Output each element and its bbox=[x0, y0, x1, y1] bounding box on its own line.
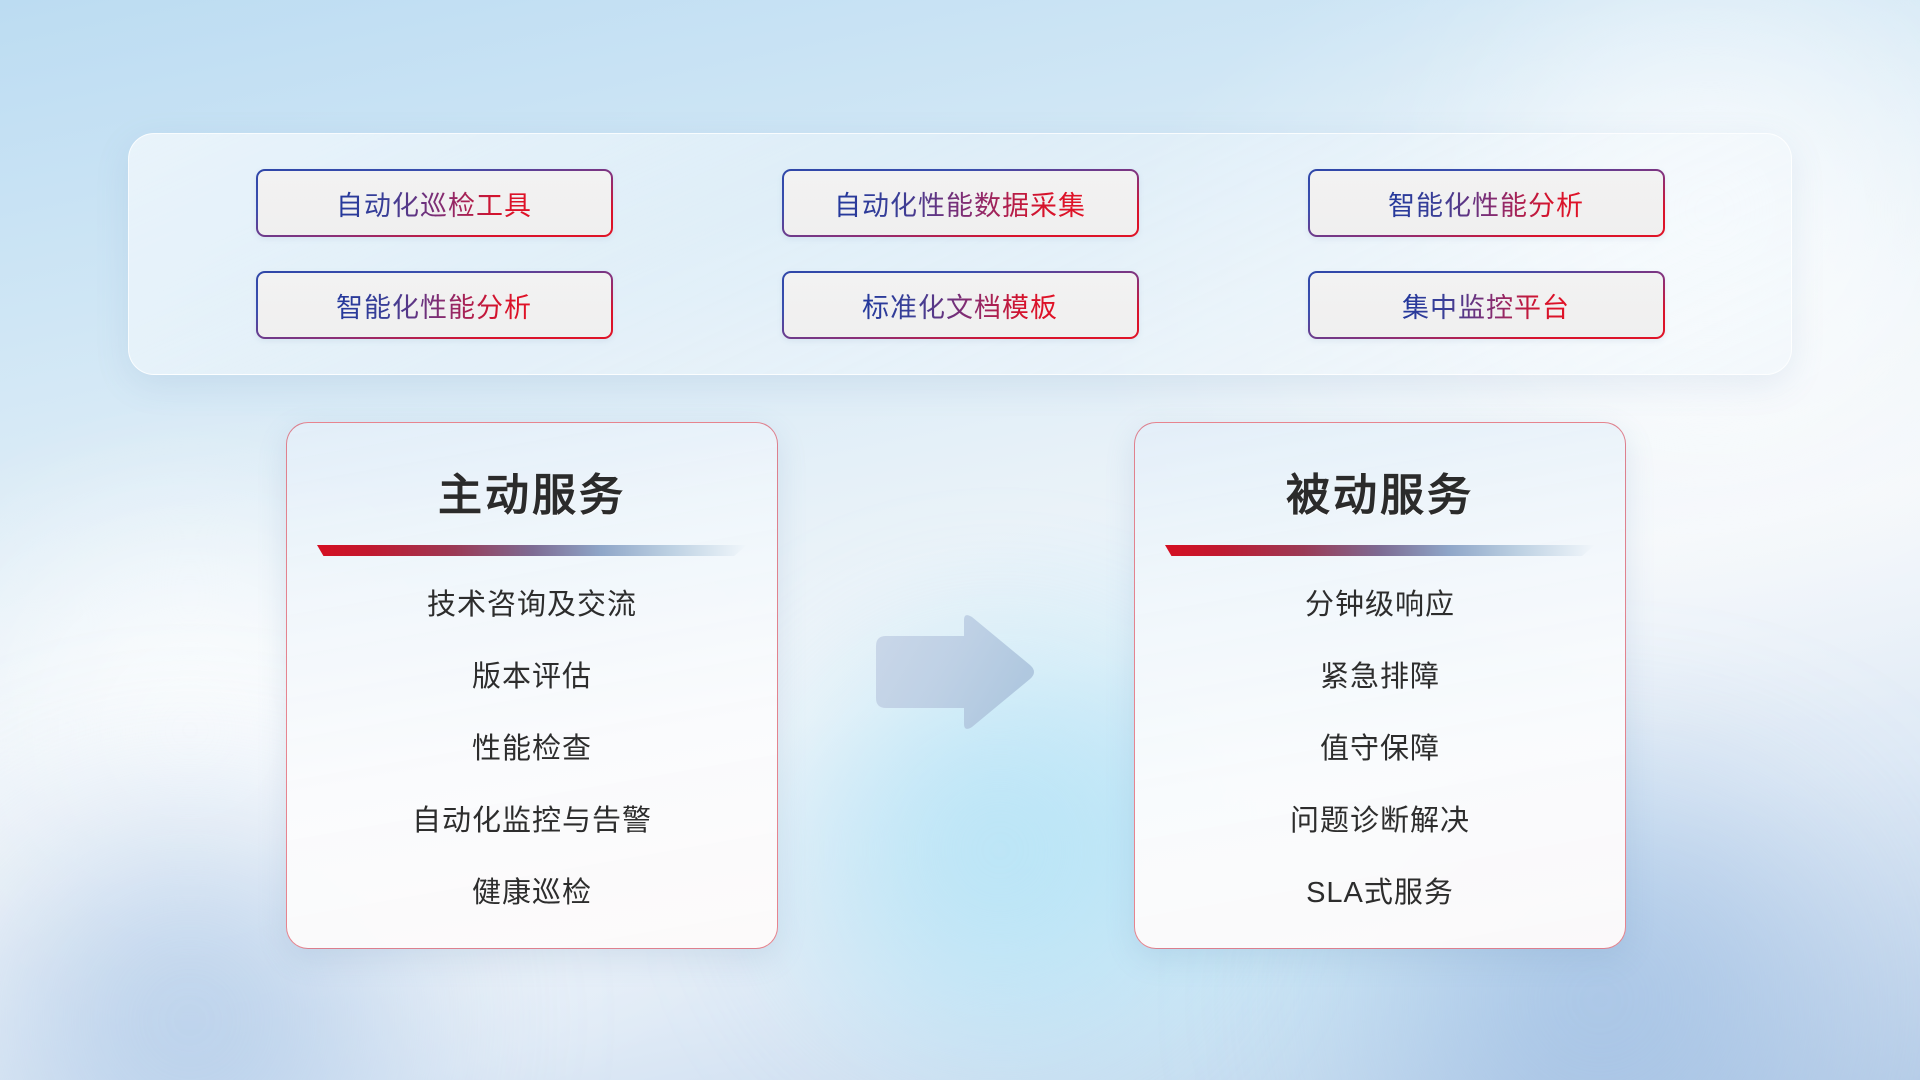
list-item: 分钟级响应 bbox=[1305, 581, 1455, 623]
list-item: 版本评估 bbox=[472, 653, 592, 695]
title-underline-bar bbox=[317, 545, 747, 556]
reactive-service-list: 分钟级响应 紧急排障 值守保障 问题诊断解决 SLA式服务 bbox=[1135, 556, 1625, 948]
title-underline-bar bbox=[1165, 545, 1595, 556]
capability-tag-5[interactable]: 集中监控平台 bbox=[1308, 271, 1665, 339]
capability-tag-panel: 自动化巡检工具 自动化性能数据采集 智能化性能分析 智能化性能分析 标准化文档模… bbox=[128, 133, 1792, 375]
list-item: 问题诊断解决 bbox=[1290, 797, 1470, 839]
capability-tag-2[interactable]: 智能化性能分析 bbox=[1308, 169, 1665, 237]
capability-tag-label: 自动化性能数据采集 bbox=[834, 184, 1086, 223]
list-item: SLA式服务 bbox=[1306, 869, 1454, 911]
proactive-service-card: 主动服务 技术咨询及交流 版本评估 性能检查 自动化监控与告警 健康巡检 bbox=[286, 422, 778, 949]
list-item: 值守保障 bbox=[1320, 725, 1440, 767]
capability-tag-4[interactable]: 标准化文档模板 bbox=[782, 271, 1139, 339]
list-item: 紧急排障 bbox=[1320, 653, 1440, 695]
slide-canvas: 自动化巡检工具 自动化性能数据采集 智能化性能分析 智能化性能分析 标准化文档模… bbox=[0, 0, 1920, 1080]
capability-tag-0[interactable]: 自动化巡检工具 bbox=[256, 169, 613, 237]
capability-tag-label: 智能化性能分析 bbox=[1388, 184, 1584, 223]
capability-tag-label: 智能化性能分析 bbox=[336, 286, 532, 325]
flow-arrow bbox=[868, 612, 1038, 732]
list-item: 健康巡检 bbox=[472, 869, 592, 911]
arrow-right-icon bbox=[868, 612, 1038, 732]
list-item: 技术咨询及交流 bbox=[427, 581, 637, 623]
capability-tag-label: 集中监控平台 bbox=[1402, 286, 1570, 325]
capability-tag-label: 标准化文档模板 bbox=[862, 286, 1058, 325]
capability-tag-1[interactable]: 自动化性能数据采集 bbox=[782, 169, 1139, 237]
capability-tag-3[interactable]: 智能化性能分析 bbox=[256, 271, 613, 339]
proactive-service-title: 主动服务 bbox=[438, 459, 626, 523]
list-item: 自动化监控与告警 bbox=[412, 797, 652, 839]
capability-tag-label: 自动化巡检工具 bbox=[336, 184, 532, 223]
reactive-service-title: 被动服务 bbox=[1286, 459, 1474, 523]
list-item: 性能检查 bbox=[472, 725, 592, 767]
proactive-service-list: 技术咨询及交流 版本评估 性能检查 自动化监控与告警 健康巡检 bbox=[287, 556, 777, 948]
reactive-service-card: 被动服务 分钟级响应 紧急排障 值守保障 问题诊断解决 SLA式服务 bbox=[1134, 422, 1626, 949]
